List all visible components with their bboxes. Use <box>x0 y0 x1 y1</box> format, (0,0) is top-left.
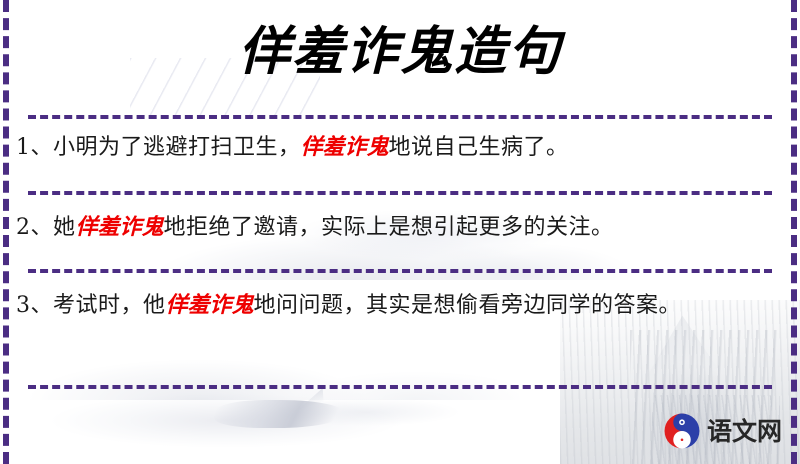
divider-bottom <box>28 385 772 389</box>
page-title: 佯羞诈鬼造句 <box>0 22 800 82</box>
sentence-3-index: 3、 <box>16 293 53 318</box>
sentence-2-after: 地拒绝了邀请，实际上是想引起更多的关注。 <box>164 215 614 240</box>
sentence-2-keyword: 佯羞诈鬼 <box>76 214 164 240</box>
example-sentence-1: 1、小明为了逃避打扫卫生，佯羞诈鬼地说自己生病了。 <box>16 128 784 167</box>
yin-yang-fish-icon <box>663 412 701 450</box>
divider-after-1 <box>28 191 772 195</box>
slide-page: 佯羞诈鬼造句 1、小明为了逃避打扫卫生，佯羞诈鬼地说自己生病了。 2、她佯羞诈鬼… <box>0 0 800 464</box>
sentence-1-index: 1、 <box>16 135 53 160</box>
divider-after-2 <box>28 269 772 273</box>
example-sentence-2: 2、她佯羞诈鬼地拒绝了邀请，实际上是想引起更多的关注。 <box>16 208 784 247</box>
sentence-2-before: 她 <box>53 215 76 240</box>
frame-border-right <box>791 0 797 464</box>
example-sentence-3: 3、考试时，他佯羞诈鬼地问问题，其实是想偷看旁边同学的答案。 <box>16 286 784 325</box>
sentence-2-index: 2、 <box>16 215 53 240</box>
site-logo[interactable]: 语文网 <box>663 412 782 450</box>
sentence-1-keyword: 佯羞诈鬼 <box>301 134 389 160</box>
sentence-3-before: 考试时，他 <box>53 293 166 318</box>
slide-content: 佯羞诈鬼造句 1、小明为了逃避打扫卫生，佯羞诈鬼地说自己生病了。 2、她佯羞诈鬼… <box>0 0 800 464</box>
sentence-1-after: 地说自己生病了。 <box>389 135 569 160</box>
sentence-3-keyword: 佯羞诈鬼 <box>166 292 254 318</box>
frame-border-left <box>3 0 9 464</box>
site-logo-text: 语文网 <box>707 419 782 444</box>
sentence-1-before: 小明为了逃避打扫卫生， <box>53 135 301 160</box>
sentence-3-after: 地问问题，其实是想偷看旁边同学的答案。 <box>254 293 682 318</box>
divider-top <box>28 115 772 119</box>
